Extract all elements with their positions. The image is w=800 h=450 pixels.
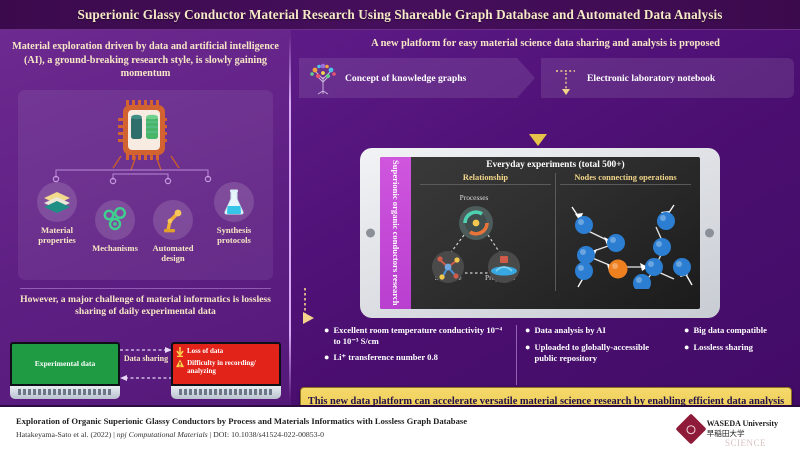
page-title: Superionic Glassy Conductor Material Res… [78, 7, 723, 23]
footer-paper-title: Exploration of Organic Superionic Glassy… [16, 416, 467, 426]
bullet-column-1: ● Excellent room temperature conductivit… [316, 325, 516, 385]
poster-header: Superionic Glassy Conductor Material Res… [0, 0, 800, 30]
side-tab-label: Superionic organic conductors research [390, 160, 401, 306]
warning-text-1: Difficulty in recording/ analyzing [187, 359, 276, 376]
screen-columns: Relationship Processes Structure Propert… [416, 173, 695, 291]
column-title-nodes: Nodes connecting operations [560, 173, 691, 185]
footer-doi: DOI: 10.1038/s41524-022-00853-0 [213, 430, 324, 439]
chevron-row: Concept of knowledge graphs Electronic l… [299, 58, 794, 100]
waseda-diamond-icon [675, 413, 706, 444]
gears-icon [95, 200, 135, 240]
watermark: SCIENCE [725, 438, 766, 448]
logo-text-en: WASEDA University [707, 419, 778, 429]
warning-loss-of-data: Loss of data [176, 347, 276, 357]
icon-item-automated-design: Automated design [142, 200, 204, 264]
bullet-dot: ● [684, 325, 689, 336]
download-arrow-icon [176, 347, 184, 357]
ai-materials-card: Material properties [18, 90, 273, 280]
bullet-text: Li⁺ transference number 0.8 [333, 352, 437, 363]
data-sharing-label: Data sharing [118, 354, 174, 364]
bullet-column-2: ● Data analysis by AI ● Uploaded to glob… [516, 325, 676, 385]
bullet-dot: ● [525, 325, 530, 336]
bullet-item: ● Lossless sharing [684, 342, 784, 353]
left-column: Material exploration driven by data and … [0, 30, 291, 405]
data-sharing-diagram: Experimental data Data sharing [0, 334, 291, 400]
bullet-item: ● Big data compatible [684, 325, 784, 336]
bullet-item: ● Data analysis by AI [525, 325, 668, 336]
chevron-label-1: Electronic laboratory notebook [587, 73, 715, 84]
left-lead-text: Material exploration driven by data and … [8, 40, 283, 81]
robot-arm-icon [153, 200, 193, 240]
left-separator [20, 288, 271, 289]
knowledge-tree-icon [306, 61, 340, 95]
icon-label-mechanisms: Mechanisms [84, 243, 146, 253]
icon-item-mechanisms: Mechanisms [84, 200, 146, 253]
node-graph-diagram [556, 187, 700, 289]
poster-footer: Exploration of Organic Superionic Glassy… [0, 405, 800, 450]
laptop-keyboard-2 [171, 386, 281, 399]
laptop-experimental-data: Experimental data [10, 342, 120, 399]
footer-journal: npj Computational Materials [117, 430, 208, 439]
left-challenge-text: However, a major challenge of material i… [6, 294, 285, 319]
bullet-dot: ● [684, 342, 689, 353]
notebook-icon [553, 61, 579, 95]
footer-citation: Hatakeyama-Sato et al. (2022) | npj Comp… [16, 430, 324, 439]
infographic-poster: Superionic Glassy Conductor Material Res… [0, 0, 800, 450]
layered-sheets-icon [37, 182, 77, 222]
bullet-item: ● Li⁺ transference number 0.8 [324, 352, 508, 363]
bullet-dot: ● [525, 342, 530, 363]
column-title-relationship: Relationship [420, 173, 551, 185]
column-relationship: Relationship Processes Structure Propert… [416, 173, 555, 291]
tablet-device: Superionic organic conductors research E… [360, 148, 720, 318]
right-lead-text: A new platform for easy material science… [301, 38, 790, 49]
chevron-label-0: Concept of knowledge graphs [345, 73, 466, 84]
footer-authors: Hatakeyama-Sato et al. (2022) [16, 430, 111, 439]
bullet-column-3: ● Big data compatible ● Lossless sharing [676, 325, 792, 385]
screen-title: Everyday experiments (total 500+) [416, 160, 695, 170]
icon-label-material-properties: Material properties [26, 225, 88, 246]
chevron-knowledge-graphs[interactable]: Concept of knowledge graphs [299, 58, 535, 98]
bullet-text: Uploaded to globally-accessible public r… [534, 342, 668, 363]
screen-content: Everyday experiments (total 500+) Relati… [411, 157, 700, 309]
laptop-keyboard [10, 386, 120, 399]
column-nodes: Nodes connecting operations [555, 173, 695, 291]
down-arrow-icon [525, 132, 551, 148]
cpu-database-icon [101, 98, 191, 174]
side-tab-project[interactable]: Superionic organic conductors research [380, 157, 411, 309]
icon-label-synthesis-protocols: Synthesis protocols [203, 225, 265, 246]
warning-triangle-icon [176, 359, 184, 368]
dotted-arrow-icon [299, 288, 315, 328]
warning-difficulty: Difficulty in recording/ analyzing [176, 359, 276, 376]
icon-item-synthesis-protocols: Synthesis protocols [203, 182, 265, 246]
poster-body: Material exploration driven by data and … [0, 30, 800, 405]
bullet-dot: ● [324, 352, 329, 363]
warning-text-0: Loss of data [187, 347, 223, 355]
bullet-text: Lossless sharing [693, 342, 752, 353]
chevron-electronic-notebook[interactable]: Electronic laboratory notebook [541, 58, 794, 98]
research-icon-row: Material properties [18, 168, 273, 276]
flask-icon [214, 182, 254, 222]
tablet-screen: Superionic organic conductors research E… [380, 157, 700, 309]
bullet-dot: ● [324, 325, 329, 346]
relationship-triangle-diagram [416, 187, 540, 287]
bullet-text: Data analysis by AI [534, 325, 605, 336]
laptop-data-loss: Loss of data Difficulty in recording/ an… [171, 342, 281, 399]
bullet-text: Big data compatible [693, 325, 767, 336]
bullet-text: Excellent room temperature conductivity … [333, 325, 508, 346]
waseda-logo: WASEDA University 早稲田大学 [680, 418, 778, 440]
laptop-screen-red: Loss of data Difficulty in recording/ an… [171, 342, 281, 386]
key-results-bullets: ● Excellent room temperature conductivit… [316, 325, 800, 385]
icon-label-automated-design: Automated design [142, 243, 204, 264]
bullet-item: ● Excellent room temperature conductivit… [324, 325, 508, 346]
icon-item-material-properties: Material properties [26, 182, 88, 246]
laptop-screen-green: Experimental data [10, 342, 120, 386]
laptop-left-label: Experimental data [35, 359, 96, 368]
bullet-item: ● Uploaded to globally-accessible public… [525, 342, 668, 363]
